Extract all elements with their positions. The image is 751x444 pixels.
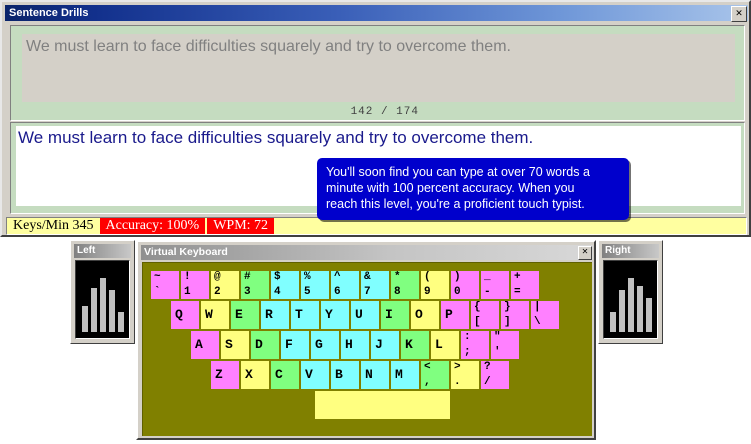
key-shift-label: _ <box>484 271 491 284</box>
key-[interactable]: += <box>511 271 539 299</box>
finger-bar <box>646 298 652 332</box>
key-8[interactable]: *8 <box>391 271 419 299</box>
finger-bar <box>100 278 106 332</box>
key-shift-label: ^ <box>334 271 341 284</box>
key-H[interactable]: H <box>341 331 369 359</box>
right-hand-diagram <box>603 260 658 339</box>
key-label: Y <box>325 307 333 322</box>
key-V[interactable]: V <box>301 361 329 389</box>
key-label: 3 <box>244 286 251 299</box>
key-label: , <box>424 376 431 389</box>
key-label: J <box>375 337 383 352</box>
keyboard-home-row: ASDFGHJKL:;"' <box>191 331 519 359</box>
key-label: O <box>415 307 423 322</box>
tip-balloon: You'll soon find you can type at over 70… <box>317 158 629 220</box>
finger-bar <box>619 290 625 332</box>
key-P[interactable]: P <box>441 301 469 329</box>
key-5[interactable]: %5 <box>301 271 329 299</box>
key-label: A <box>195 337 203 352</box>
key-K[interactable]: K <box>401 331 429 359</box>
keyboard-number-row: ~`!1@2#3$4%5^6&7*8(9)0_-+= <box>151 271 539 299</box>
key-label: - <box>484 286 491 299</box>
window-titlebar[interactable]: Sentence Drills ✕ <box>5 5 748 21</box>
finger-bar <box>628 278 634 332</box>
key-label: H <box>345 337 353 352</box>
key-[interactable]: |\ <box>531 301 559 329</box>
key-4[interactable]: $4 <box>271 271 299 299</box>
finger-bar <box>637 286 643 332</box>
key-label: X <box>245 367 253 382</box>
left-hand-panel: Left <box>70 240 135 344</box>
left-hand-title: Left <box>74 244 131 258</box>
key-3[interactable]: #3 <box>241 271 269 299</box>
key-label: P <box>445 307 453 322</box>
key-[interactable]: ?/ <box>481 361 509 389</box>
key-I[interactable]: I <box>381 301 409 329</box>
finger-bar <box>82 306 88 332</box>
key-Q[interactable]: Q <box>171 301 199 329</box>
key-label: N <box>365 367 373 382</box>
key-[interactable]: <, <box>421 361 449 389</box>
key-[interactable]: {[ <box>471 301 499 329</box>
key-S[interactable]: S <box>221 331 249 359</box>
key-space[interactable] <box>315 391 450 419</box>
key-label: . <box>454 376 461 389</box>
key-label: 7 <box>364 286 371 299</box>
key-label: F <box>285 337 293 352</box>
key-shift-label: } <box>504 301 511 314</box>
right-hand-panel: Right <box>598 240 663 344</box>
key-label: V <box>305 367 313 382</box>
key-shift-label: | <box>534 301 541 314</box>
prompt-textbox: We must learn to face difficulties squar… <box>22 34 735 102</box>
key-label: 5 <box>304 286 311 299</box>
key-shift-label: ( <box>424 271 431 284</box>
left-hand-diagram <box>75 260 130 339</box>
prompt-text: We must learn to face difficulties squar… <box>22 34 735 57</box>
key-shift-label: + <box>514 271 521 284</box>
key-0[interactable]: )0 <box>451 271 479 299</box>
key-6[interactable]: ^6 <box>331 271 359 299</box>
keyboard-bottom-row: ZXCVBNM<,>.?/ <box>211 361 509 389</box>
key-E[interactable]: E <box>231 301 259 329</box>
virtual-keyboard-window: Virtual Keyboard ✕ ~`!1@2#3$4%5^6&7*8(9)… <box>136 240 596 440</box>
key-label: ' <box>494 346 501 359</box>
key-label: K <box>405 337 413 352</box>
keyboard-surface: ~`!1@2#3$4%5^6&7*8(9)0_-+=QWERTYUIOP{[}]… <box>142 262 592 436</box>
key-W[interactable]: W <box>201 301 229 329</box>
key-shift-label: > <box>454 361 461 374</box>
key-shift-label: " <box>494 331 501 344</box>
key-label: M <box>395 367 403 382</box>
key-label: U <box>355 307 363 322</box>
key-shift-label: ! <box>184 271 191 284</box>
tip-line-2: minute with 100 percent accuracy. When y… <box>326 180 620 196</box>
key-shift-label: ~ <box>154 271 161 284</box>
finger-bar <box>610 312 616 332</box>
key-U[interactable]: U <box>351 301 379 329</box>
key-D[interactable]: D <box>251 331 279 359</box>
key-F[interactable]: F <box>281 331 309 359</box>
key-label: W <box>205 307 213 322</box>
key-X[interactable]: X <box>241 361 269 389</box>
key-Z[interactable]: Z <box>211 361 239 389</box>
key-label: B <box>335 367 343 382</box>
key-G[interactable]: G <box>311 331 339 359</box>
key-A[interactable]: A <box>191 331 219 359</box>
key-Y[interactable]: Y <box>321 301 349 329</box>
status-wpm: WPM: 72 <box>207 218 274 234</box>
key-label: 4 <box>274 286 281 299</box>
key-label: L <box>435 337 443 352</box>
key-label: R <box>265 307 273 322</box>
key-shift-label: { <box>474 301 481 314</box>
key-label: S <box>225 337 233 352</box>
key-L[interactable]: L <box>431 331 459 359</box>
key-shift-label: ? <box>484 361 491 374</box>
key-[interactable]: :; <box>461 331 489 359</box>
key-shift-label: $ <box>274 271 281 284</box>
key-7[interactable]: &7 <box>361 271 389 299</box>
key-label: = <box>514 286 521 299</box>
key-label: I <box>385 307 393 322</box>
key-label: ; <box>464 346 471 359</box>
keyboard-title: Virtual Keyboard <box>141 245 228 260</box>
character-counter: 142 / 174 <box>351 106 419 118</box>
key-label: ] <box>504 316 511 329</box>
tip-line-1: You'll soon find you can type at over 70… <box>326 164 620 180</box>
key-[interactable]: >. <box>451 361 479 389</box>
key-shift-label: % <box>304 271 311 284</box>
key-shift-label: : <box>464 331 471 344</box>
key-label: 2 <box>214 286 221 299</box>
finger-bar <box>91 288 97 332</box>
key-label: E <box>235 307 243 322</box>
keyboard-close-icon[interactable]: ✕ <box>578 246 592 260</box>
key-N[interactable]: N <box>361 361 389 389</box>
key-J[interactable]: J <box>371 331 399 359</box>
key-O[interactable]: O <box>411 301 439 329</box>
key-shift-label: ) <box>454 271 461 284</box>
finger-bar <box>109 290 115 332</box>
key-M[interactable]: M <box>391 361 419 389</box>
key-label: [ <box>474 316 481 329</box>
key-label: C <box>275 367 283 382</box>
keyboard-titlebar[interactable]: Virtual Keyboard ✕ <box>141 245 593 260</box>
key-T[interactable]: T <box>291 301 319 329</box>
key-label: 8 <box>394 286 401 299</box>
finger-bar <box>118 312 124 332</box>
key-label: T <box>295 307 303 322</box>
tip-line-3: reach this level, you're a proficient to… <box>326 196 620 212</box>
keyboard-qwerty-row: QWERTYUIOP{[}]|\ <box>171 301 559 329</box>
window-title: Sentence Drills <box>5 5 88 21</box>
status-keys-per-min: Keys/Min 345 <box>7 218 100 234</box>
key-2[interactable]: @2 <box>211 271 239 299</box>
key-label: ` <box>154 286 161 299</box>
key-label: Q <box>175 307 183 322</box>
key-label: Z <box>215 367 223 382</box>
key-C[interactable]: C <box>271 361 299 389</box>
key-shift-label: # <box>244 271 251 284</box>
key-shift-label: < <box>424 361 431 374</box>
key-[interactable]: ~` <box>151 271 179 299</box>
key-label: D <box>255 337 263 352</box>
key-[interactable]: "' <box>491 331 519 359</box>
key-label: 9 <box>424 286 431 299</box>
key-label: 0 <box>454 286 461 299</box>
prompt-panel: We must learn to face difficulties squar… <box>10 25 745 121</box>
key-9[interactable]: (9 <box>421 271 449 299</box>
key-label: / <box>484 376 491 389</box>
key-shift-label: * <box>394 271 401 284</box>
key-label: G <box>315 337 323 352</box>
close-icon[interactable]: ✕ <box>731 6 747 22</box>
key-shift-label: @ <box>214 271 221 284</box>
typed-text: We must learn to face difficulties squar… <box>16 126 741 149</box>
key-B[interactable]: B <box>331 361 359 389</box>
key-shift-label: & <box>364 271 371 284</box>
key-label: 6 <box>334 286 341 299</box>
status-accuracy: Accuracy: 100% <box>100 218 206 234</box>
key-R[interactable]: R <box>261 301 289 329</box>
key-label: 1 <box>184 286 191 299</box>
key-[interactable]: }] <box>501 301 529 329</box>
right-hand-title: Right <box>602 244 659 258</box>
key-[interactable]: _- <box>481 271 509 299</box>
key-label: \ <box>534 316 541 329</box>
key-1[interactable]: !1 <box>181 271 209 299</box>
